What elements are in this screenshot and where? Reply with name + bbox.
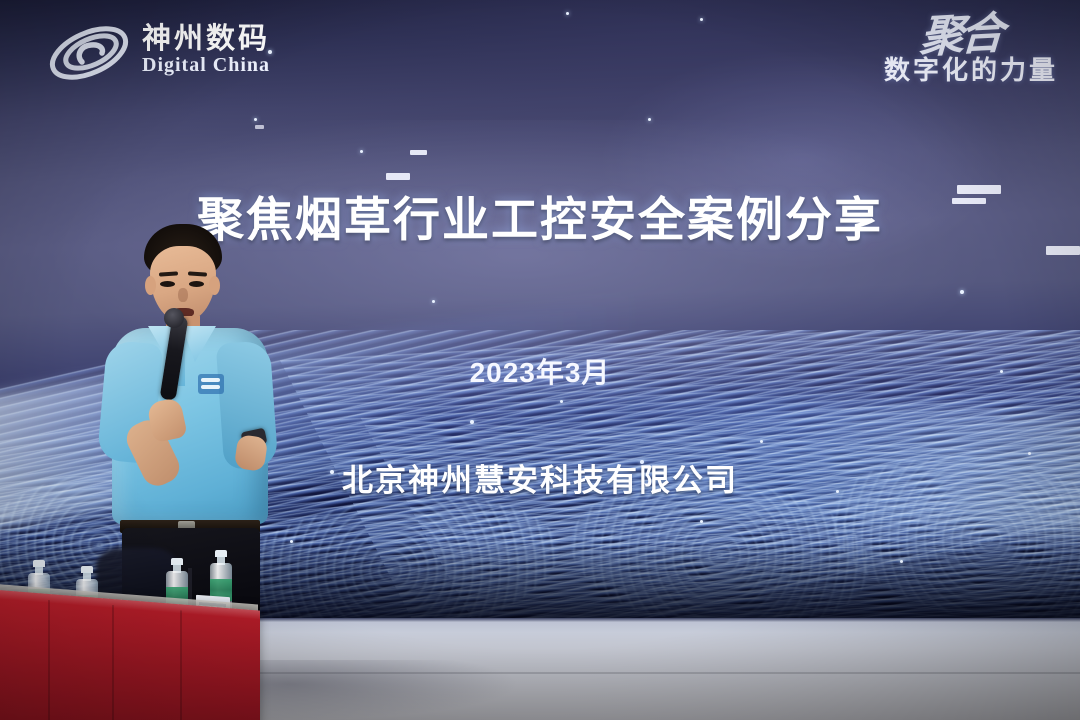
stage-photo: 聚焦烟草行业工控安全案例分享 2023年3月 北京神州慧安科技有限公司 神州数码… <box>0 0 1080 720</box>
brand-name-cn: 神州数码 <box>142 24 270 54</box>
light-particle <box>960 290 964 294</box>
speaker-eye <box>160 281 175 287</box>
light-particle <box>290 540 293 543</box>
light-particle <box>566 12 569 15</box>
light-particle <box>760 440 763 443</box>
light-particle <box>470 420 474 424</box>
skirt-fold <box>112 605 114 720</box>
speaker-ear <box>145 276 156 295</box>
event-logo: 聚合 数字化的力量 <box>808 16 1058 116</box>
swirl-mark-icon <box>46 22 132 84</box>
skirt-fold <box>180 610 182 720</box>
light-particle <box>900 560 903 563</box>
digital-china-wordmark: 神州数码 Digital China <box>142 24 270 77</box>
light-particle <box>700 520 703 523</box>
speaker-chest-logo <box>198 374 224 394</box>
brand-name-en: Digital China <box>142 54 270 77</box>
screen-accent-bar <box>386 173 410 180</box>
light-particle <box>432 300 435 303</box>
table-skirt <box>0 589 260 720</box>
light-particle <box>648 118 651 121</box>
screen-accent-bar <box>410 150 427 155</box>
digital-china-logo: 神州数码 Digital China <box>46 22 346 92</box>
speaker-eye <box>189 281 204 287</box>
speaker-nose <box>178 288 188 302</box>
light-particle <box>254 118 257 121</box>
speaker-ear <box>209 276 220 295</box>
light-particle <box>360 150 363 153</box>
light-particle <box>560 400 563 403</box>
light-particle <box>700 18 703 21</box>
skirt-fold <box>48 600 50 720</box>
screen-accent-bar <box>255 125 264 129</box>
event-calligraphy: 聚合 <box>919 14 1001 58</box>
